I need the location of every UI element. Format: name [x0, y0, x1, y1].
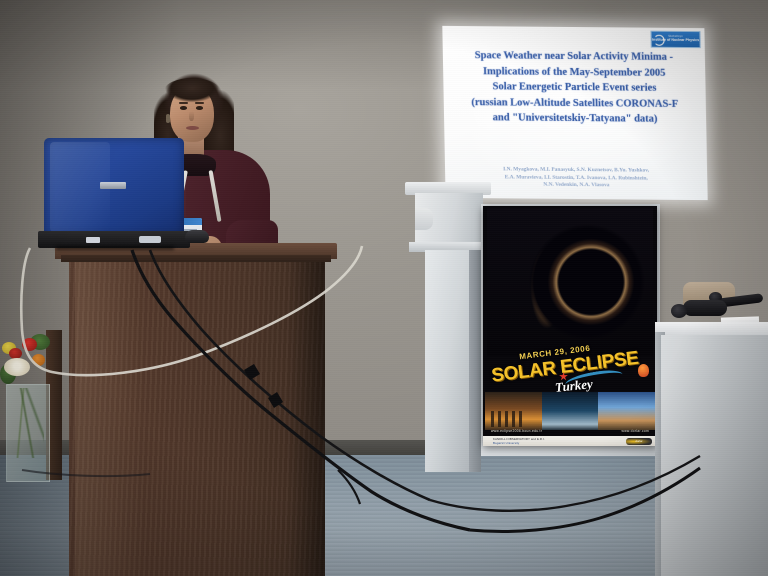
poster-footer: KANDILLI OBSERVATORY and E.R.I. Bogazici… — [483, 436, 657, 446]
slide-title: Space Weather near Solar Activity Minima… — [451, 48, 699, 128]
poster-url-left: www.eclipse2006.boun.edu.tr — [491, 429, 542, 436]
podium-column-edge — [469, 250, 481, 472]
slide-title-line-4: (russian Low-Altitude Satellites CORONAS… — [452, 94, 698, 112]
solar-eclipse-poster: MARCH 29, 2006 SOLAR ECLIPSE Turkey www.… — [483, 206, 657, 446]
poster-footer-line2: Bogazici University — [493, 441, 545, 445]
speaker-eyebrow-left — [179, 102, 188, 104]
laptop-port-usb[interactable] — [86, 237, 100, 243]
side-table-front — [661, 335, 768, 576]
speaker-eye-left — [180, 106, 187, 110]
podium-shelf-notch — [415, 208, 433, 230]
cable-coil — [683, 300, 727, 316]
laptop-port-vga[interactable] — [139, 236, 161, 243]
orange-bloom-icon — [32, 354, 45, 366]
speaker-mouth — [186, 126, 199, 130]
wooden-lectern — [55, 243, 337, 576]
hot-air-balloon-icon — [638, 364, 649, 377]
presentation-photo-scene: Skobeltsyn Institute of Nuclear Physics … — [0, 0, 768, 576]
eclipse-photo — [487, 208, 653, 356]
poster-urls: www.eclipse2006.boun.edu.tr www.dorlar.c… — [485, 429, 655, 436]
cable-knob — [671, 304, 687, 318]
sponsor-logo: dorlar — [626, 438, 652, 445]
red-rose-icon — [22, 338, 37, 351]
white-gerbera-icon — [4, 358, 30, 376]
computer-mouse[interactable] — [185, 230, 209, 243]
poster-url-right: www.dorlar.com — [622, 429, 649, 436]
poster-photo-night — [542, 392, 599, 430]
speaker-hair-front — [164, 78, 220, 104]
lectern-shadow — [287, 261, 325, 576]
side-table-top — [655, 322, 768, 336]
presenter-laptop[interactable] — [38, 138, 190, 248]
speaker-eye-right — [196, 106, 203, 110]
side-table — [655, 322, 768, 576]
projected-slide: Skobeltsyn Institute of Nuclear Physics … — [442, 26, 707, 200]
speaker-nose — [189, 111, 194, 121]
flower-stems — [10, 388, 44, 458]
earring-icon — [166, 114, 170, 123]
laptop-logo-badge — [100, 182, 126, 189]
swirl-icon — [654, 35, 665, 46]
slide-title-line-2: Implications of the May-September 2005 — [451, 63, 697, 81]
laptop-shadow — [56, 246, 174, 250]
institute-logo: Skobeltsyn Institute of Nuclear Physics — [650, 31, 700, 48]
white-podium: MARCH 29, 2006 SOLAR ECLIPSE Turkey www.… — [405, 182, 660, 472]
lectern-highlight — [75, 261, 145, 576]
speaker-eyebrow-right — [195, 102, 204, 104]
poster-photo-temple — [485, 392, 542, 430]
slide-title-line-1: Space Weather near Solar Activity Minima… — [451, 48, 697, 66]
poster-photo-strip — [485, 392, 655, 430]
flower-arrangement — [0, 330, 62, 480]
slide-title-line-5: and "Universitetskiy-Tatyana" data) — [452, 110, 698, 128]
lectern-top-lip — [61, 255, 331, 262]
poster-photo-crowd — [598, 392, 655, 430]
